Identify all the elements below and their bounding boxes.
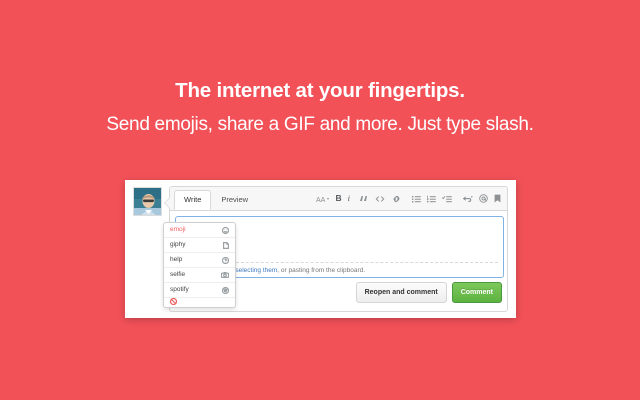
bold-icon[interactable]: B xyxy=(335,193,341,204)
hero-banner: The internet at your fingertips. Send em… xyxy=(0,79,640,136)
toolbar-group-text: AA B i xyxy=(316,193,350,204)
tab-write[interactable]: Write xyxy=(174,190,211,210)
slash-item-spotify[interactable]: spotify xyxy=(164,283,235,298)
avatar xyxy=(133,187,162,216)
camera-icon xyxy=(221,272,229,278)
select-files-link[interactable]: selecting them xyxy=(235,267,277,274)
avatar-photo xyxy=(134,188,162,216)
attach-hint-after: , or pasting from the clipboard. xyxy=(277,267,365,274)
slash-item-label: selfie xyxy=(170,272,185,279)
slash-item-emoji[interactable]: emoji xyxy=(164,223,235,238)
saved-reply-icon[interactable] xyxy=(494,193,501,204)
error-circle-icon xyxy=(170,298,177,305)
slash-item-label: emoji xyxy=(170,227,186,234)
toolbar-group-lists xyxy=(412,193,452,204)
comment-form-card: Write Preview AA B i xyxy=(125,180,516,318)
formatting-toolbar: AA B i xyxy=(316,193,501,204)
slash-item-label: spotify xyxy=(170,287,189,294)
slash-item-help[interactable]: help xyxy=(164,253,235,268)
unordered-list-icon[interactable] xyxy=(412,193,421,204)
code-icon[interactable] xyxy=(375,193,385,204)
toolbar-group-insert xyxy=(360,193,402,204)
slash-command-menu[interactable]: emoji giphy help selfie spotify xyxy=(163,222,236,308)
toolbar-group-references xyxy=(462,193,501,204)
footer-buttons: Reopen and comment Comment xyxy=(356,282,502,303)
link-icon[interactable] xyxy=(391,193,402,204)
giphy-icon xyxy=(223,242,229,249)
reopen-and-comment-button[interactable]: Reopen and comment xyxy=(356,282,447,303)
page-subtitle: Send emojis, share a GIF and more. Just … xyxy=(0,114,640,137)
slash-item-giphy[interactable]: giphy xyxy=(164,238,235,253)
help-icon xyxy=(222,257,229,264)
slash-item-selfie[interactable]: selfie xyxy=(164,268,235,283)
slash-item-more[interactable] xyxy=(164,298,235,307)
editor-tabs: Write Preview xyxy=(174,190,258,209)
tab-preview[interactable]: Preview xyxy=(211,190,258,209)
slash-item-label: help xyxy=(170,257,182,264)
mention-icon[interactable] xyxy=(479,193,488,204)
task-list-icon[interactable] xyxy=(442,193,452,204)
editor-header: Write Preview AA B i xyxy=(170,187,507,211)
page-title: The internet at your fingertips. xyxy=(0,79,640,104)
ordered-list-icon[interactable] xyxy=(427,193,436,204)
svg-text:AA: AA xyxy=(316,197,326,203)
heading-icon[interactable]: AA xyxy=(316,193,329,204)
spotify-icon xyxy=(222,287,229,294)
comment-button[interactable]: Comment xyxy=(452,282,502,303)
reply-icon[interactable] xyxy=(462,193,473,204)
slash-item-label: giphy xyxy=(170,242,186,249)
quote-icon[interactable] xyxy=(360,193,369,204)
italic-icon[interactable]: i xyxy=(348,193,350,204)
emoji-icon xyxy=(222,227,229,234)
